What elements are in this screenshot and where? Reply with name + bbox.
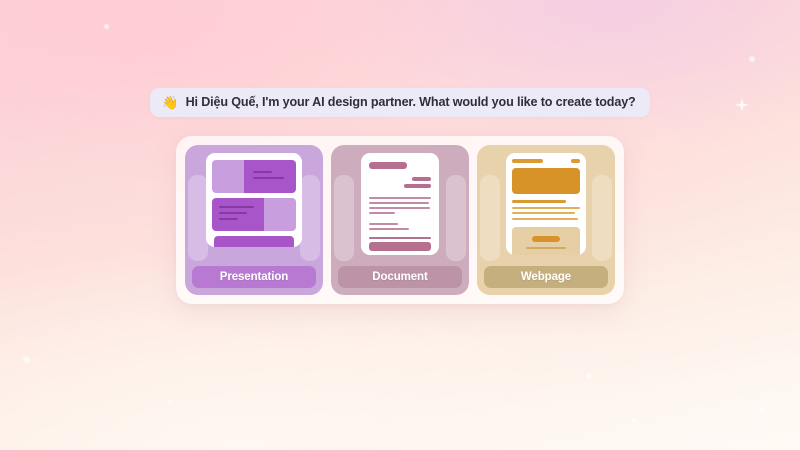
doc-meta-block	[404, 184, 431, 188]
text-line	[253, 177, 284, 179]
slide-image-pane	[264, 198, 296, 231]
card-side-bar	[592, 175, 612, 261]
text-line	[369, 202, 429, 204]
sparkle-dot	[586, 373, 592, 379]
card-side-bar	[446, 175, 466, 261]
text-line	[369, 197, 431, 199]
web-heading-block	[512, 200, 566, 203]
web-hero-banner	[512, 168, 580, 194]
slide-thumbnail-partial	[214, 236, 294, 247]
slide-text-pane	[244, 160, 296, 193]
card-side-bar	[480, 175, 500, 261]
spacer	[369, 188, 431, 194]
greeting-bubble: 👋 Hi Diệu Quế, I'm your AI design partne…	[150, 88, 649, 117]
web-topbar	[512, 159, 580, 163]
web-caption-line	[526, 247, 567, 249]
card-label-webpage[interactable]: Webpage	[484, 266, 608, 288]
web-nav-block	[571, 159, 580, 163]
sparkle-dot	[22, 355, 31, 364]
webpage-preview	[506, 153, 586, 255]
card-presentation[interactable]: Presentation	[185, 145, 323, 295]
text-line	[512, 212, 575, 214]
slide-thumbnail	[212, 160, 296, 193]
doc-title-block	[369, 162, 407, 169]
sparkle-dot	[631, 418, 636, 423]
sparkle-dot	[758, 406, 766, 414]
web-cta-panel	[512, 227, 580, 256]
slide-thumbnail	[212, 198, 296, 231]
slide-image-pane	[212, 160, 244, 193]
web-cta-button-block	[532, 236, 561, 242]
waving-hand-icon: 👋	[162, 96, 178, 109]
spacer	[369, 214, 431, 220]
text-line	[369, 223, 398, 225]
greeting-row: 👋 Hi Diệu Quế, I'm your AI design partne…	[0, 88, 800, 117]
sparkle-dot	[748, 55, 756, 63]
document-preview	[361, 153, 439, 255]
text-line	[369, 212, 395, 214]
sparkle-dot	[103, 23, 110, 30]
sparkle-dot	[167, 399, 172, 404]
card-side-bar	[334, 175, 354, 261]
card-webpage[interactable]: Webpage	[477, 145, 615, 295]
text-line	[219, 212, 247, 214]
card-label-document[interactable]: Document	[338, 266, 462, 288]
text-line	[253, 171, 272, 173]
text-line	[219, 206, 254, 208]
text-line	[219, 218, 238, 220]
card-panel-wrap: Presentation	[0, 136, 800, 304]
card-label-presentation[interactable]: Presentation	[192, 266, 316, 288]
doc-divider	[369, 237, 431, 239]
card-side-bar	[300, 175, 320, 261]
slide-text-pane	[212, 198, 264, 231]
card-document[interactable]: Document	[331, 145, 469, 295]
text-line	[369, 207, 430, 209]
card-side-bar	[188, 175, 208, 261]
doc-meta-group	[369, 177, 431, 188]
text-line	[512, 207, 580, 209]
greeting-text: Hi Diệu Quế, I'm your AI design partner.…	[186, 95, 636, 109]
doc-footer-block	[369, 242, 431, 251]
create-options-panel: Presentation	[176, 136, 624, 304]
web-logo-block	[512, 159, 543, 163]
text-line	[369, 228, 409, 230]
presentation-preview	[206, 153, 302, 247]
text-line	[512, 218, 578, 220]
doc-meta-block	[412, 177, 431, 181]
